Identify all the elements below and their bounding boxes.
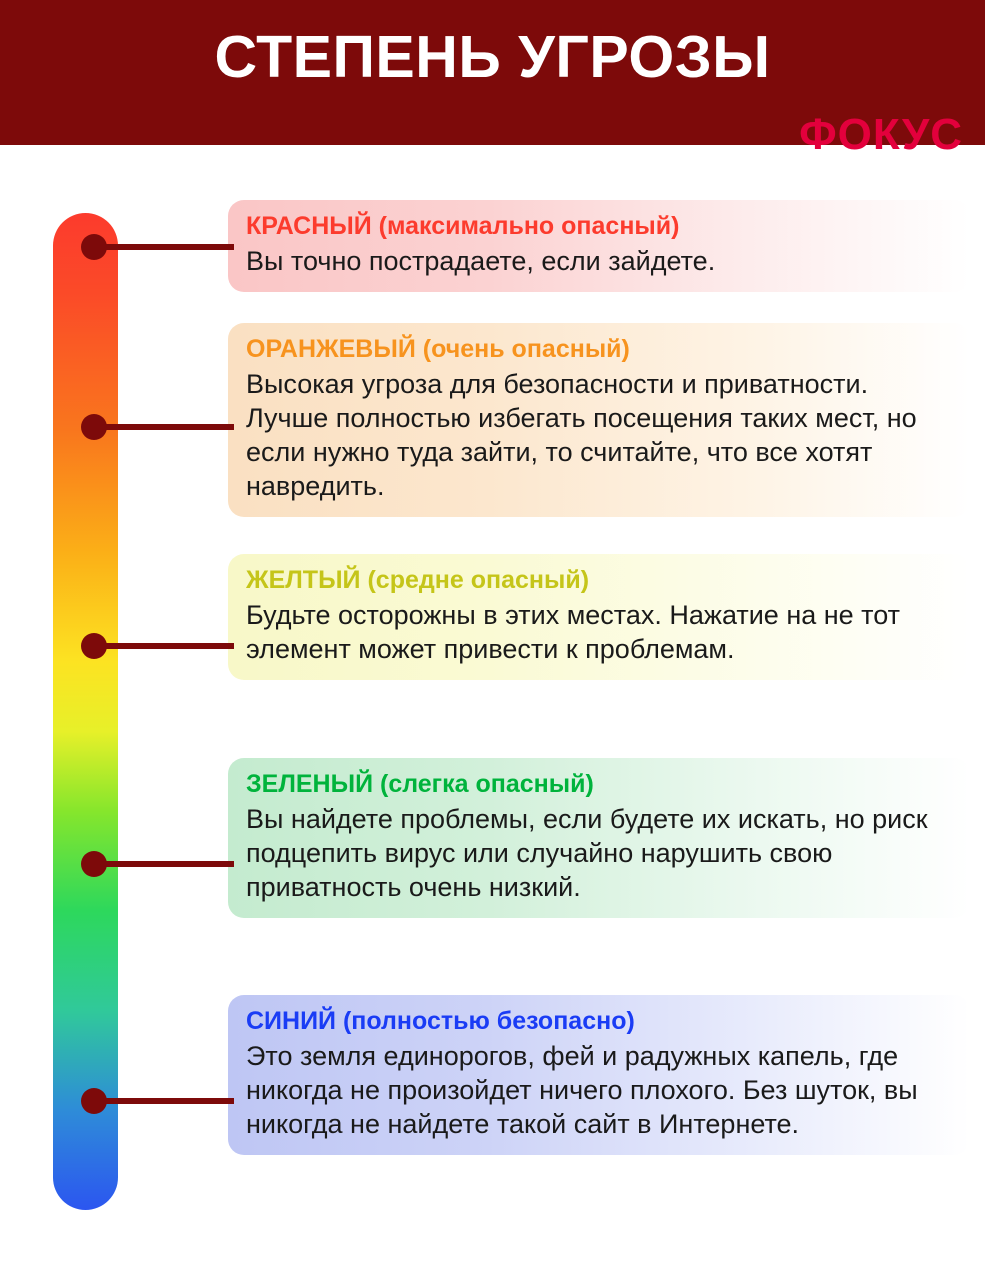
threat-level-body-orange: Высокая угроза для безопасности и приват… <box>246 367 952 503</box>
connector-line-orange <box>94 424 234 430</box>
threat-level-card-green: ЗЕЛЕНЫЙ (слегка опасный) Вы найдете проб… <box>228 758 970 918</box>
threat-level-body-yellow: Будьте осторожны в этих местах. Нажатие … <box>246 598 952 666</box>
threat-level-body-blue: Это земля единорогов, фей и радужных кап… <box>246 1039 952 1141</box>
brand-logo-fokus: ФОКУС <box>799 113 963 157</box>
threat-level-heading-yellow: ЖЕЛТЫЙ (средне опасный) <box>246 566 952 596</box>
connector-line-blue <box>94 1098 234 1104</box>
threat-level-heading-green: ЗЕЛЕНЫЙ (слегка опасный) <box>246 770 952 800</box>
connector-dot-blue <box>81 1088 107 1114</box>
connector-dot-yellow <box>81 633 107 659</box>
threat-level-card-blue: СИНИЙ (полностью безопасно) Это земля ед… <box>228 995 970 1155</box>
threat-level-body-green: Вы найдете проблемы, если будете их иска… <box>246 802 952 904</box>
threat-level-heading-red: КРАСНЫЙ (максимально опасный) <box>246 212 952 242</box>
connector-line-red <box>94 244 234 250</box>
connector-dot-green <box>81 851 107 877</box>
threat-level-heading-blue: СИНИЙ (полностью безопасно) <box>246 1007 952 1037</box>
threat-level-card-orange: ОРАНЖЕВЫЙ (очень опасный) Высокая угроза… <box>228 323 970 517</box>
threat-gradient-bar <box>53 213 118 1210</box>
connector-line-yellow <box>94 643 234 649</box>
threat-level-card-yellow: ЖЕЛТЫЙ (средне опасный) Будьте осторожны… <box>228 554 970 680</box>
page-title: СТЕПЕНЬ УГРОЗЫ <box>0 28 985 87</box>
threat-level-heading-orange: ОРАНЖЕВЫЙ (очень опасный) <box>246 335 952 365</box>
connector-line-green <box>94 861 234 867</box>
threat-level-body-red: Вы точно пострадаете, если зайдете. <box>246 244 952 278</box>
connector-dot-red <box>81 234 107 260</box>
connector-dot-orange <box>81 414 107 440</box>
threat-level-card-red: КРАСНЫЙ (максимально опасный) Вы точно п… <box>228 200 970 292</box>
